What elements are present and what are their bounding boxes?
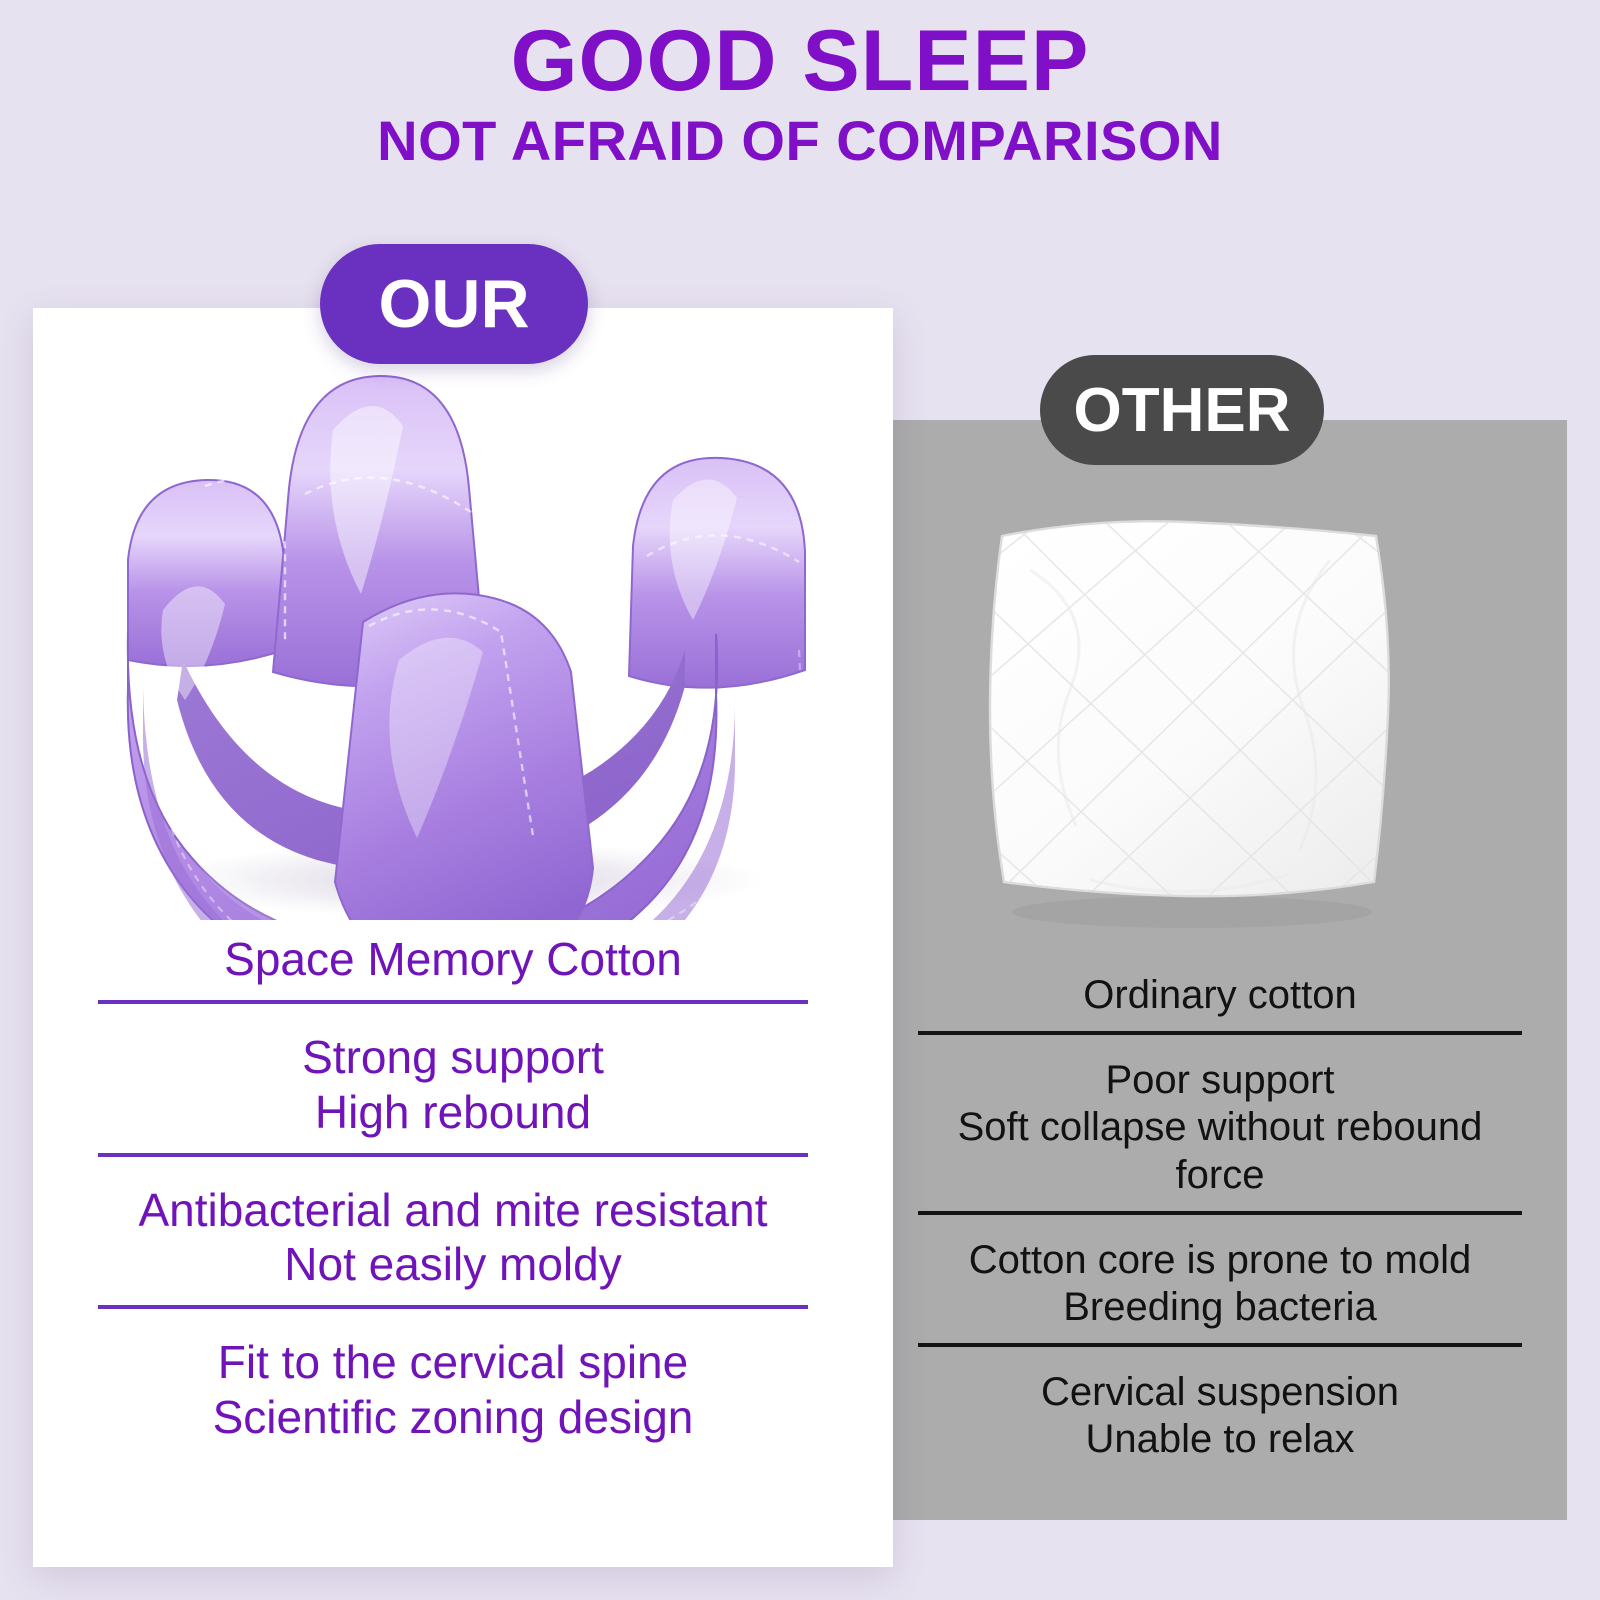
feature-line: Antibacterial and mite resistant (98, 1183, 808, 1237)
divider (918, 1343, 1522, 1347)
feature-divider-wrap (918, 1019, 1522, 1057)
feature-line: Space Memory Cotton (98, 932, 808, 986)
feature-line: High rebound (98, 1085, 808, 1139)
divider (98, 1153, 808, 1157)
feature-divider-wrap (918, 1331, 1522, 1369)
badge-our: OUR (320, 244, 588, 364)
feature-line: Breeding bacteria (918, 1284, 1522, 1331)
divider (918, 1211, 1522, 1215)
purple-pillow-icon (33, 360, 893, 920)
feature-line: Unable to relax (918, 1416, 1522, 1463)
divider (918, 1031, 1522, 1035)
feature-line: Scientific zoning design (98, 1390, 808, 1444)
feature-divider-wrap (98, 986, 808, 1030)
white-pillow-icon (960, 480, 1420, 940)
feature-line: Not easily moldy (98, 1237, 808, 1291)
divider (98, 1000, 808, 1004)
badge-other-label: OTHER (1074, 375, 1291, 446)
feature-line: Soft collapse without rebound force (918, 1104, 1522, 1198)
feature-line: Poor support (918, 1057, 1522, 1104)
feature-line: Fit to the cervical spine (98, 1335, 808, 1389)
feature-item: Antibacterial and mite resistant Not eas… (98, 1183, 808, 1292)
feature-item: Strong support High rebound (98, 1030, 808, 1139)
page-subtitle: NOT AFRAID OF COMPARISON (0, 112, 1600, 171)
other-product-image (960, 480, 1420, 940)
feature-line: Cotton core is prone to mold (918, 1237, 1522, 1284)
divider (98, 1305, 808, 1309)
feature-divider-wrap (98, 1291, 808, 1335)
feature-divider-wrap (98, 1139, 808, 1183)
feature-item: Ordinary cotton (918, 972, 1522, 1019)
our-feature-list: Space Memory Cotton Strong support High … (98, 932, 808, 1444)
comparison-infographic: GOOD SLEEP NOT AFRAID OF COMPARISON (0, 0, 1600, 1600)
other-feature-list: Ordinary cotton Poor support Soft collap… (918, 972, 1522, 1464)
badge-our-label: OUR (378, 265, 529, 343)
header: GOOD SLEEP NOT AFRAID OF COMPARISON (0, 18, 1600, 171)
feature-divider-wrap (918, 1199, 1522, 1237)
feature-line: Cervical suspension (918, 1369, 1522, 1416)
feature-item: Cervical suspension Unable to relax (918, 1369, 1522, 1463)
feature-line: Strong support (98, 1030, 808, 1084)
badge-other: OTHER (1040, 355, 1324, 465)
feature-item: Space Memory Cotton (98, 932, 808, 986)
page-title: GOOD SLEEP (0, 18, 1600, 106)
feature-item: Cotton core is prone to mold Breeding ba… (918, 1237, 1522, 1331)
feature-item: Poor support Soft collapse without rebou… (918, 1057, 1522, 1199)
feature-item: Fit to the cervical spine Scientific zon… (98, 1335, 808, 1444)
feature-line: Ordinary cotton (918, 972, 1522, 1019)
our-product-image (33, 360, 893, 920)
